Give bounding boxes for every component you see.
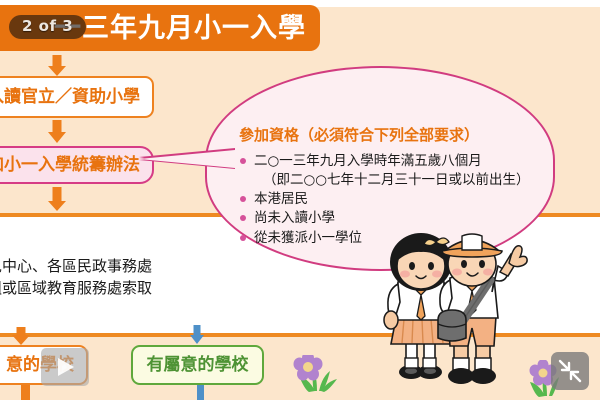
flow-box-official-school-label: 望入讀官立／資助小學 [0, 88, 140, 107]
exit-fullscreen-icon [551, 352, 589, 390]
requirement-sub-text: （即二○○七年十二月三十一日或以前出生） [254, 171, 539, 190]
flow-box-central-allocation-label: 加小一入學統籌辦法 [0, 156, 140, 175]
exit-fullscreen-button[interactable] [551, 352, 589, 390]
flower-decoration-icon [291, 355, 343, 395]
requirement-main-text: 本港居民 [254, 191, 308, 207]
page-indicator-badge: 2 of 3 [9, 15, 86, 39]
flow-box-has-preference-school-label: 有屬意的學校 [147, 356, 249, 375]
slide-title-text: 一三年九月小一入學 [54, 15, 306, 42]
flow-box-has-preference-school: 有屬意的學校 [131, 345, 264, 385]
requirement-main-text: 尚未入讀小學 [254, 210, 335, 226]
collection-info-line-3: 立分配組或區域教育服務處索取 [0, 277, 262, 300]
flow-box-official-school: 望入讀官立／資助小學 [0, 76, 154, 118]
list-item: 尚未入讀小學 [239, 209, 539, 228]
play-icon [58, 358, 74, 376]
collection-info-paragraph: 十八日 園暨幼兒中心、各區民政事務處 立分配組或區域教育服務處索取 [0, 232, 262, 300]
callout-bubble-tail [139, 150, 235, 168]
play-button[interactable] [41, 348, 89, 386]
eligibility-callout-content: 參加資格（必須符合下列全部要求） 二○一三年九月入學時年滿五歲八個月 （即二○○… [239, 124, 539, 248]
collection-info-line-2: 園暨幼兒中心、各區民政事務處 [0, 255, 262, 278]
list-item: 本港居民 [239, 190, 539, 209]
requirement-main-text: 從未獲派小一學位 [254, 230, 362, 246]
eligibility-callout-title: 參加資格（必須符合下列全部要求） [239, 124, 539, 145]
video-player-viewport: 一三年九月小一入學 望入讀官立／資助小學 加小一入學統籌辦法 [0, 0, 600, 400]
requirement-main-text: 二○一三年九月入學時年滿五歲八個月 [254, 153, 482, 169]
list-item: 二○一三年九月入學時年滿五歲八個月 （即二○○七年十二月三十一日或以前出生） [239, 152, 539, 190]
connector-stub [21, 385, 30, 400]
slide-canvas: 一三年九月小一入學 望入讀官立／資助小學 加小一入學統籌辦法 [0, 0, 600, 400]
flow-box-central-allocation: 加小一入學統籌辦法 [0, 146, 154, 184]
connector-stub [197, 385, 204, 400]
schoolchildren-illustration [378, 232, 528, 400]
collection-info-line-1: 十八日 [0, 232, 262, 255]
